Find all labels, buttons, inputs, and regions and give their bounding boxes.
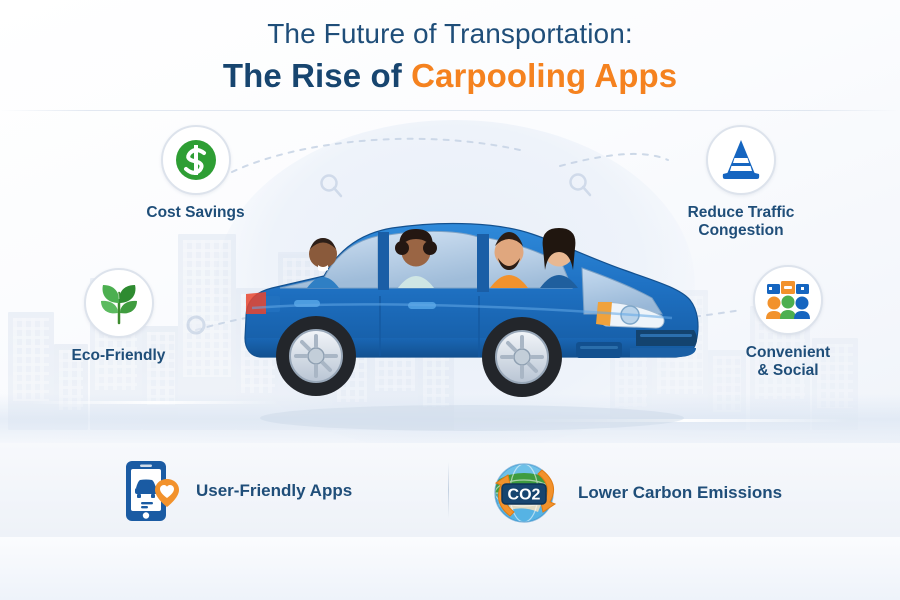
title-line-2-prefix: The Rise of bbox=[223, 57, 411, 94]
air-intake bbox=[576, 342, 622, 358]
feature-reduce-traffic[interactable]: Reduce Traffic Congestion bbox=[662, 125, 820, 241]
reduce-traffic-label: Reduce Traffic Congestion bbox=[662, 204, 820, 241]
title-line-2: The Rise of Carpooling Apps bbox=[0, 55, 900, 98]
people-group-icon bbox=[764, 278, 812, 322]
strip-item-user-friendly-apps[interactable]: User-Friendly Apps bbox=[122, 460, 352, 522]
front-bumper bbox=[630, 348, 696, 357]
traffic-cone-icon bbox=[717, 136, 765, 184]
footer-band bbox=[0, 537, 900, 600]
convenient-social-badge bbox=[753, 265, 823, 335]
carpool-car-illustration bbox=[232, 196, 702, 434]
feature-eco-friendly[interactable]: Eco-Friendly bbox=[46, 268, 191, 365]
co2-text: CO2 bbox=[508, 487, 541, 504]
grille-bar bbox=[640, 334, 692, 337]
cost-savings-badge bbox=[161, 125, 231, 195]
strip-item-lower-carbon-emissions[interactable]: CO2 Lower Carbon Emissions bbox=[490, 460, 782, 526]
strip-vertical-divider bbox=[448, 462, 449, 518]
lower-carbon-emissions-label: Lower Carbon Emissions bbox=[578, 483, 782, 503]
front-wheel bbox=[482, 317, 562, 397]
rear-wheel bbox=[276, 316, 356, 396]
tail-light bbox=[246, 292, 266, 314]
eco-friendly-label: Eco-Friendly bbox=[46, 347, 191, 365]
header-divider bbox=[0, 110, 900, 111]
co2-globe-icon: CO2 bbox=[490, 460, 564, 526]
header: The Future of Transportation: The Rise o… bbox=[0, 16, 900, 98]
feature-cost-savings[interactable]: Cost Savings bbox=[123, 125, 268, 222]
leaves-icon bbox=[95, 279, 143, 327]
air-intake-slat bbox=[580, 346, 618, 349]
convenient-social-label: Convenient & Social bbox=[712, 344, 864, 381]
reduce-traffic-badge bbox=[706, 125, 776, 195]
title-line-1: The Future of Transportation: bbox=[0, 16, 900, 51]
b-pillar-2 bbox=[477, 234, 489, 292]
feature-convenient-social[interactable]: Convenient & Social bbox=[712, 265, 864, 381]
cost-savings-label: Cost Savings bbox=[123, 204, 268, 222]
car-shadow bbox=[260, 405, 684, 431]
dollar-circle-icon bbox=[171, 135, 221, 185]
infographic-canvas: The Future of Transportation: The Rise o… bbox=[0, 0, 900, 600]
user-friendly-apps-label: User-Friendly Apps bbox=[196, 481, 352, 501]
grille bbox=[636, 330, 697, 346]
eco-friendly-badge bbox=[84, 268, 154, 338]
title-line-2-accent: Carpooling Apps bbox=[411, 57, 677, 94]
phone-rideshare-icon bbox=[122, 460, 182, 522]
b-pillar-1 bbox=[378, 232, 389, 290]
